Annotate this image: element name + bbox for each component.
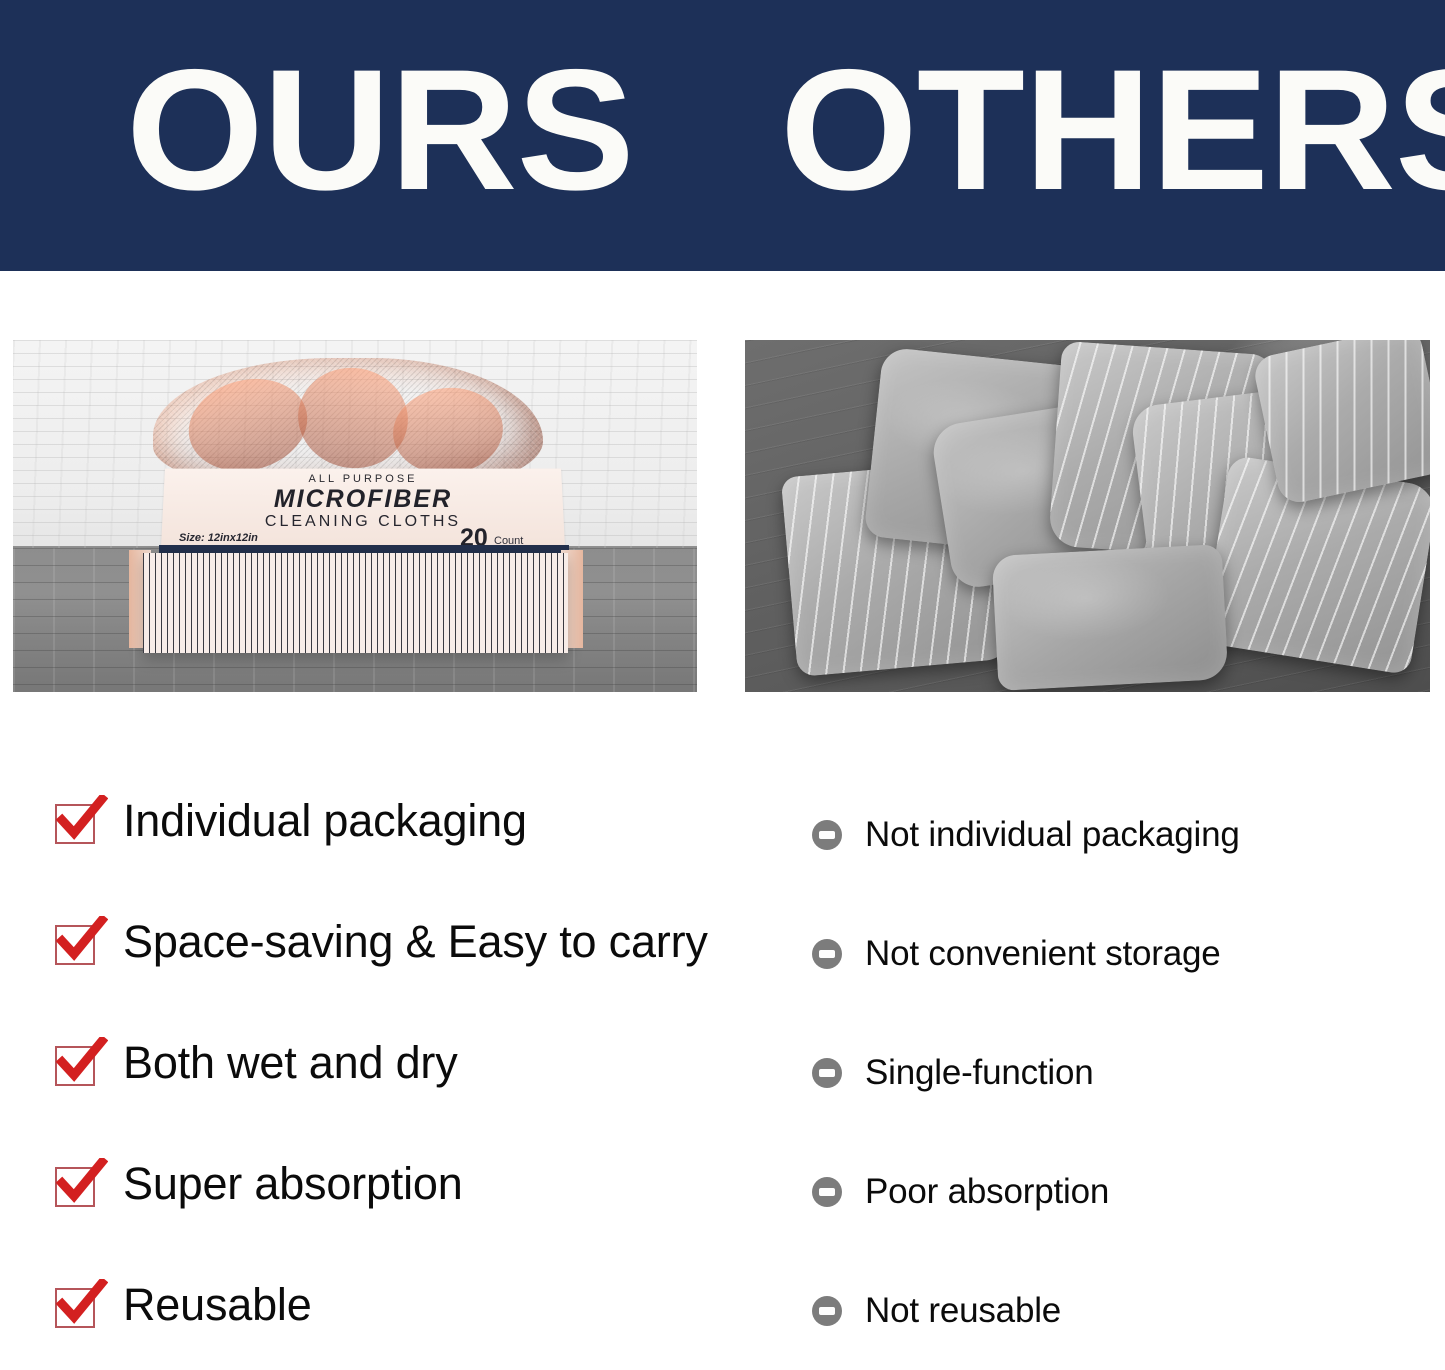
list-item: Poor absorption bbox=[745, 1132, 1445, 1251]
list-item-label: Poor absorption bbox=[865, 1172, 1109, 1212]
list-item-label: Single-function bbox=[865, 1053, 1094, 1093]
list-item-label: Not individual packaging bbox=[865, 815, 1240, 855]
page-title-others: OTHERS bbox=[780, 44, 1445, 216]
photo-row: ALL PURPOSE MICROFIBER CLEANING CLOTHS S… bbox=[0, 340, 1445, 692]
ours-feature-list: Individual packaging Space-saving & Easy… bbox=[0, 760, 720, 1365]
list-item-label: Not convenient storage bbox=[865, 934, 1221, 974]
list-item: Individual packaging bbox=[0, 760, 720, 881]
list-item: Not reusable bbox=[745, 1251, 1445, 1370]
package-all-purpose-text: ALL PURPOSE bbox=[163, 473, 563, 485]
check-icon bbox=[55, 1282, 101, 1328]
list-item: Single-function bbox=[745, 1013, 1445, 1132]
list-item-label: Not reusable bbox=[865, 1291, 1061, 1331]
list-item: Reusable bbox=[0, 1244, 720, 1365]
minus-icon bbox=[812, 1058, 842, 1088]
package-box-body: WET AND DRY USE DURABLE AND LONG LASTING… bbox=[143, 553, 568, 653]
header-band: OURS OTHERS bbox=[0, 0, 1445, 271]
package-product-subtitle: CLEANING CLOTHS bbox=[163, 513, 563, 531]
check-icon bbox=[55, 798, 101, 844]
towel bbox=[992, 544, 1229, 691]
minus-icon bbox=[812, 820, 842, 850]
list-item: Space-saving & Easy to carry bbox=[0, 881, 720, 1002]
list-item: Not individual packaging bbox=[745, 775, 1445, 894]
list-item-label: Reusable bbox=[123, 1279, 312, 1331]
minus-icon bbox=[812, 1177, 842, 1207]
list-item: Both wet and dry bbox=[0, 1002, 720, 1123]
list-item-label: Both wet and dry bbox=[123, 1037, 458, 1089]
product-photo-ours: ALL PURPOSE MICROFIBER CLEANING CLOTHS S… bbox=[13, 340, 697, 692]
photo-background-others bbox=[745, 340, 1430, 692]
others-feature-list: Not individual packaging Not convenient … bbox=[745, 775, 1445, 1370]
list-item: Super absorption bbox=[0, 1123, 720, 1244]
check-icon bbox=[55, 1040, 101, 1086]
photo-background-ours: ALL PURPOSE MICROFIBER CLEANING CLOTHS S… bbox=[13, 340, 697, 692]
package-size-text: Size: 12inx12in bbox=[179, 532, 258, 544]
check-icon bbox=[55, 1161, 101, 1207]
list-item-label: Super absorption bbox=[123, 1158, 463, 1210]
check-icon bbox=[55, 919, 101, 965]
list-item-label: Space-saving & Easy to carry bbox=[123, 916, 708, 968]
minus-icon bbox=[812, 1296, 842, 1326]
list-item: Not convenient storage bbox=[745, 894, 1445, 1013]
package-product-name: MICROFIBER bbox=[163, 485, 563, 514]
page-title-ours: OURS bbox=[126, 44, 634, 216]
product-photo-others bbox=[745, 340, 1430, 692]
list-item-label: Individual packaging bbox=[123, 795, 527, 847]
minus-icon bbox=[812, 939, 842, 969]
